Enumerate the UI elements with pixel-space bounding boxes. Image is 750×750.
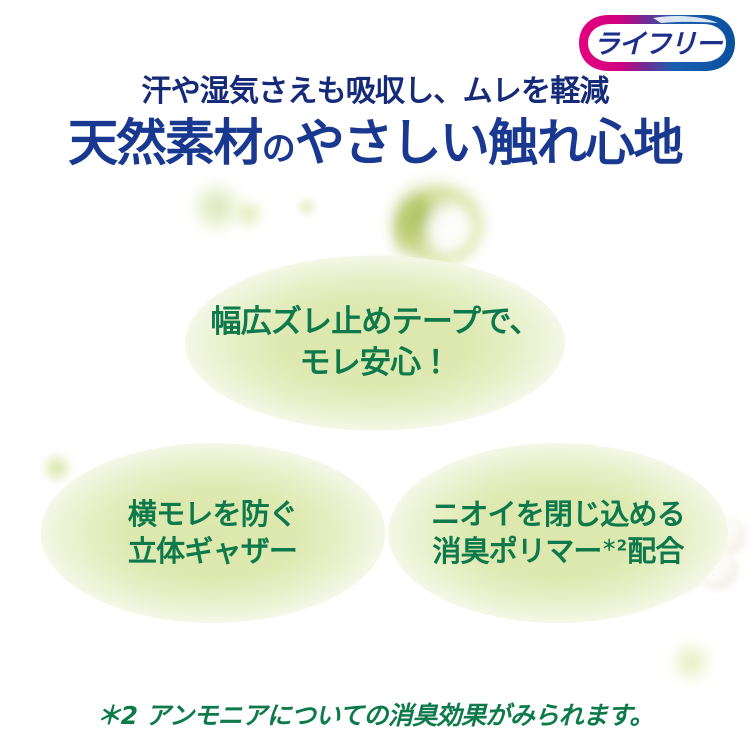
feature-line-2: 消臭ポリマー＊2配合 <box>432 533 683 570</box>
feature-line-2: 立体ギャザー <box>128 533 297 570</box>
feature-line-2-after: 配合 <box>627 534 683 568</box>
headline-subtitle: 汗や湿気さえも吸収し、ムレを軽減 <box>0 76 750 108</box>
feature-line-1: ニオイを閉じ込める <box>431 496 685 533</box>
feature-line-1: 幅広ズレ止めテープで、 <box>210 302 539 342</box>
logo-wordmark: ライフリー <box>593 29 723 60</box>
page-title: 天然素材のやさしい触れ心地 <box>0 116 750 170</box>
feature-line-2: モレ安心！ <box>300 343 451 383</box>
footnote-marker: ＊2 <box>602 536 628 554</box>
cotton-plant-ring-icon <box>404 188 482 264</box>
green-blur-dot-icon <box>188 180 246 234</box>
feature-bubble-side-leak-gathers: 横モレを防ぐ 立体ギャザー <box>40 443 385 623</box>
feature-line-2-before: 消臭ポリマー <box>432 534 601 568</box>
footnote-text: ＊2 アンモニアについての消臭効果がみられます。 <box>0 696 750 732</box>
ad-canvas: ライフリー 汗や湿気さえも吸収し、ムレを軽減 天然素材のやさしい触れ心地 幅広ズ… <box>0 0 750 750</box>
cotton-plant-leaf-icon <box>389 194 434 263</box>
feature-line-1: 横モレを防ぐ <box>128 496 297 533</box>
feature-bubble-wide-tape: 幅広ズレ止めテープで、 モレ安心！ <box>185 255 565 430</box>
headline-block: 汗や湿気さえも吸収し、ムレを軽減 天然素材のやさしい触れ心地 <box>0 76 750 170</box>
headline-main-part2: やさしい触れ心地 <box>295 114 682 172</box>
green-blur-dot-icon <box>232 198 266 230</box>
headline-main-part1: 天然素材 <box>68 114 262 172</box>
feature-bubble-deodorant-polymer: ニオイを閉じ込める 消臭ポリマー＊2配合 <box>388 443 728 623</box>
green-blur-dot-icon <box>296 196 318 218</box>
lifree-logo: ライフリー <box>575 11 739 75</box>
headline-main-particle: の <box>262 129 295 169</box>
green-blur-dot-icon <box>668 640 714 684</box>
